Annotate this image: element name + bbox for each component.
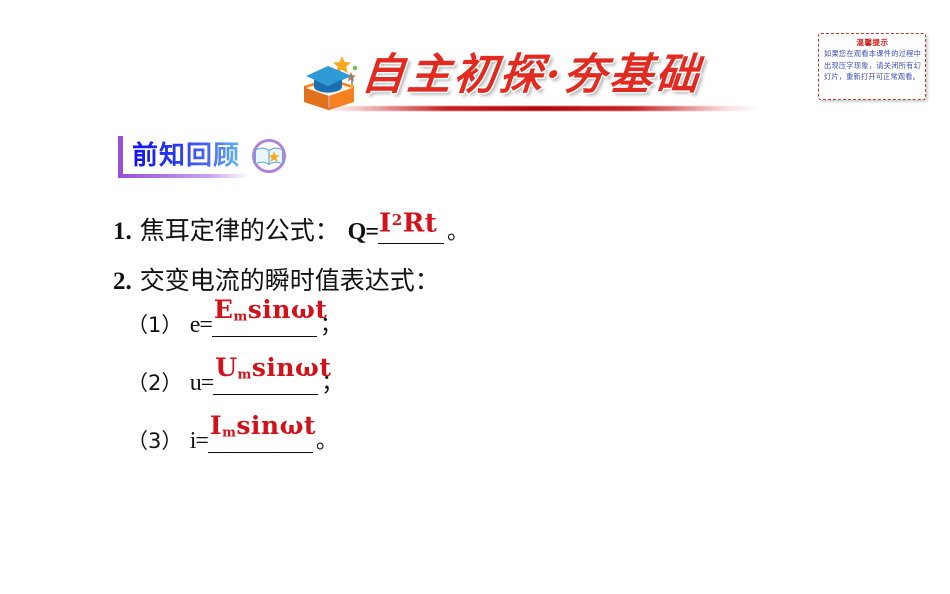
sub-question-3-tail: 。 [316,429,338,454]
question-1-lhs: Q= [348,219,378,245]
open-book-star-icon [251,138,287,174]
sub-question-2-answer: Umsinωt [215,353,331,390]
answer-subscript: m [222,425,236,440]
answer-subscript: m [238,367,252,382]
answer-symbol: I [210,411,222,440]
question-1-blank[interactable]: I2Rt [378,214,444,248]
graduation-cap-book-icon [298,52,360,112]
sub-question-2-index: （2） [127,371,182,395]
sub-question-2-lhs: u= [190,370,214,396]
question-1-answer: I2Rt [379,203,437,240]
question-2-number: 2. [113,268,132,295]
answer-symbol: I [379,208,392,238]
answer-superscript: 2 [392,211,403,229]
question-item-1: 1. 焦耳定律的公式： Q=I2Rt。 [113,214,833,264]
question-1-tail: 。 [447,220,469,245]
answer-subscript: m [233,309,247,324]
answer-rest: sinωt [236,411,316,440]
section-label: 前知回顾 [118,134,298,184]
answer-rest: sinωt [248,295,328,324]
tip-box: 温馨提示 如果您在观看本课件的过程中出现压字现象，请关闭所有幻灯片，重新打开可正… [818,33,926,100]
sub-question-3-lhs: i= [190,428,208,454]
question-1-stem: 焦耳定律的公式： [140,216,340,245]
sub-question-3-index: （3） [127,429,182,453]
answer-symbol: E [214,295,234,324]
sub-question-3-blank[interactable]: Imsinωt [208,426,313,456]
page-title: 自主初探·夯基础 [359,40,704,102]
content-body: 1. 焦耳定律的公式： Q=I2Rt。 2. 交变电流的瞬时值表达式： （1） … [113,214,833,484]
slide-canvas: 自主初探·夯基础 温馨提示 如果您在观看本课件的过程中出现压字现象，请关闭所有幻… [0,0,950,594]
sub-question-1-blank[interactable]: Emsinωt [212,310,317,340]
sub-question-3: （3） i=Imsinωt。 [113,426,833,484]
answer-symbol: U [215,353,237,382]
tip-box-body: 如果您在观看本课件的过程中出现压字现象，请关闭所有幻灯片，重新打开可正常观看。 [824,48,921,83]
header-banner: 自主初探·夯基础 [290,38,760,118]
answer-rest: Rt [403,208,438,238]
question-2-stem: 交变电流的瞬时值表达式： [140,266,440,295]
question-1-number: 1. [113,218,132,245]
answer-rest: sinωt [252,353,332,382]
sub-question-1-lhs: e= [190,312,212,338]
sub-question-1-answer: Emsinωt [214,295,327,332]
sub-question-3-answer: Imsinωt [210,411,316,448]
tip-box-title: 温馨提示 [824,37,921,48]
section-title: 前知回顾 [132,135,240,172]
sub-question-1-index: （1） [127,313,182,337]
sub-question-2-blank[interactable]: Umsinωt [213,368,318,398]
header-divider-rule [312,106,760,111]
